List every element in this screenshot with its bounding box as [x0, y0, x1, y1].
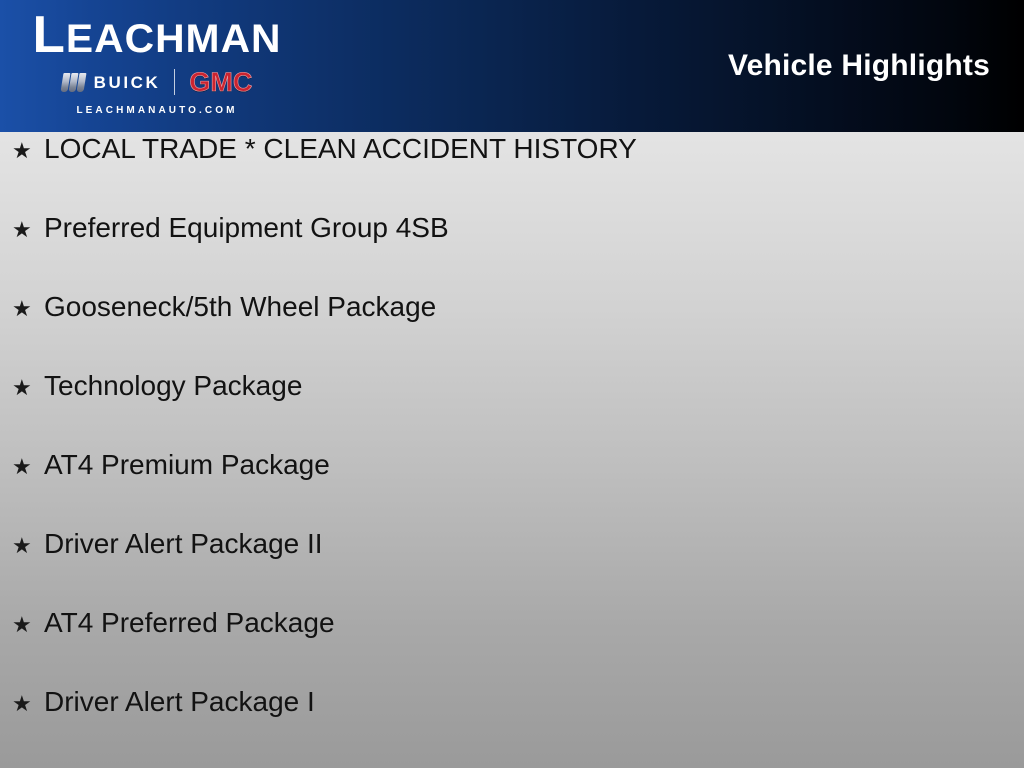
star-bullet-icon: ★: [12, 219, 44, 241]
star-bullet-icon: ★: [12, 614, 44, 636]
star-bullet-icon: ★: [12, 456, 44, 478]
highlight-label: Gooseneck/5th Wheel Package: [44, 290, 436, 324]
star-bullet-icon: ★: [12, 140, 44, 162]
highlight-item: ★Driver Alert Package II: [0, 527, 1024, 606]
vehicle-highlights-list: ★LOCAL TRADE * CLEAN ACCIDENT HISTORY★Pr…: [0, 132, 1024, 764]
dealer-wordmark: LEACHMAN: [19, 10, 294, 64]
page-title: Vehicle Highlights: [728, 0, 990, 132]
page-header: LEACHMAN BUICK GMC LEACHMANAUTO.COM Vehi…: [0, 0, 1024, 132]
highlight-item: ★Preferred Equipment Group 4SB: [0, 211, 1024, 290]
brand-gmc-label: GMC: [189, 69, 252, 96]
highlight-label: Preferred Equipment Group 4SB: [44, 211, 449, 245]
highlights-content: ★LOCAL TRADE * CLEAN ACCIDENT HISTORY★Pr…: [0, 132, 1024, 768]
vehicle-highlights-page: LEACHMAN BUICK GMC LEACHMANAUTO.COM Vehi…: [0, 0, 1024, 768]
highlight-item: ★Gooseneck/5th Wheel Package: [0, 290, 1024, 369]
brand-row: BUICK GMC: [22, 67, 292, 97]
star-bullet-icon: ★: [12, 693, 44, 715]
highlight-label: AT4 Premium Package: [44, 448, 330, 482]
highlight-item: ★Driver Alert Package I: [0, 685, 1024, 764]
highlight-label: Driver Alert Package II: [44, 527, 323, 561]
brand-buick-label: BUICK: [94, 73, 161, 92]
star-bullet-icon: ★: [12, 298, 44, 320]
buick-tri-shield-icon: [62, 73, 85, 92]
highlight-label: LOCAL TRADE * CLEAN ACCIDENT HISTORY: [44, 132, 637, 166]
wordmark-initial: L: [32, 6, 65, 64]
dealer-website-url[interactable]: LEACHMANAUTO.COM: [22, 105, 292, 116]
wordmark-remainder: EACHMAN: [66, 17, 282, 61]
dealer-logo[interactable]: LEACHMAN BUICK GMC LEACHMANAUTO.COM: [22, 10, 292, 122]
brand-divider: [174, 69, 175, 95]
highlight-item: ★LOCAL TRADE * CLEAN ACCIDENT HISTORY: [0, 132, 1024, 211]
highlight-item: ★AT4 Premium Package: [0, 448, 1024, 527]
highlight-label: AT4 Preferred Package: [44, 606, 335, 640]
highlight-item: ★Technology Package: [0, 369, 1024, 448]
star-bullet-icon: ★: [12, 535, 44, 557]
highlight-item: ★AT4 Preferred Package: [0, 606, 1024, 685]
highlight-label: Technology Package: [44, 369, 302, 403]
highlight-label: Driver Alert Package I: [44, 685, 315, 719]
star-bullet-icon: ★: [12, 377, 44, 399]
